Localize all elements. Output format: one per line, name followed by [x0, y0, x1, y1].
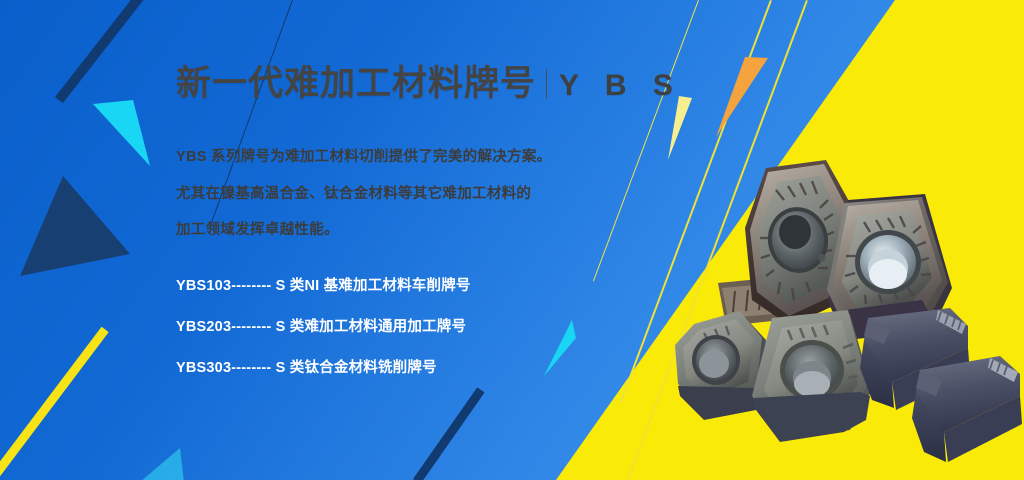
cyan-triangle-bottom [140, 448, 186, 480]
navy-diagonal-bar-top-left [55, 0, 156, 103]
navy-triangle-mid-left [20, 176, 135, 281]
model-item-ybs203: YBS203-------- S 类难加工材料通用加工牌号 [176, 315, 636, 336]
orange-triangle-top [713, 57, 771, 139]
navy-diagonal-bar-bottom-center [413, 387, 485, 480]
title-chinese: 新一代难加工材料牌号 [176, 64, 536, 103]
model-item-ybs103: YBS103-------- S 类NI 基难加工材料车削牌号 [176, 274, 636, 295]
model-item-ybs303: YBS303-------- S 类钛合金材料铣削牌号 [176, 356, 636, 377]
description-block: YBS 系列牌号为难加工材料切削提供了完美的解决方案。 尤其在镍基高温合金、钛合… [176, 148, 636, 241]
pale-yellow-triangle-top [665, 96, 695, 162]
title-code: Y B S [559, 69, 682, 102]
description-line-1: YBS 系列牌号为难加工材料切削提供了完美的解决方案。 [176, 148, 636, 167]
description-line-3: 加工领域发挥卓越性能。 [176, 221, 636, 240]
description-line-2: 尤其在镍基高温合金、钛合金材料等其它难加工材料的 [176, 185, 636, 204]
cyan-triangle-upper-left [90, 100, 160, 170]
banner-root: 新一代难加工材料牌号Y B S YBS 系列牌号为难加工材料切削提供了完美的解决… [0, 0, 1024, 480]
title-separator [546, 69, 547, 99]
model-list: YBS103-------- S 类NI 基难加工材料车削牌号 YBS203--… [176, 274, 636, 377]
yellow-diagonal-bar-bottom-left [0, 327, 109, 480]
page-title: 新一代难加工材料牌号Y B S [176, 62, 636, 106]
text-content: 新一代难加工材料牌号Y B S YBS 系列牌号为难加工材料切削提供了完美的解决… [176, 62, 636, 397]
